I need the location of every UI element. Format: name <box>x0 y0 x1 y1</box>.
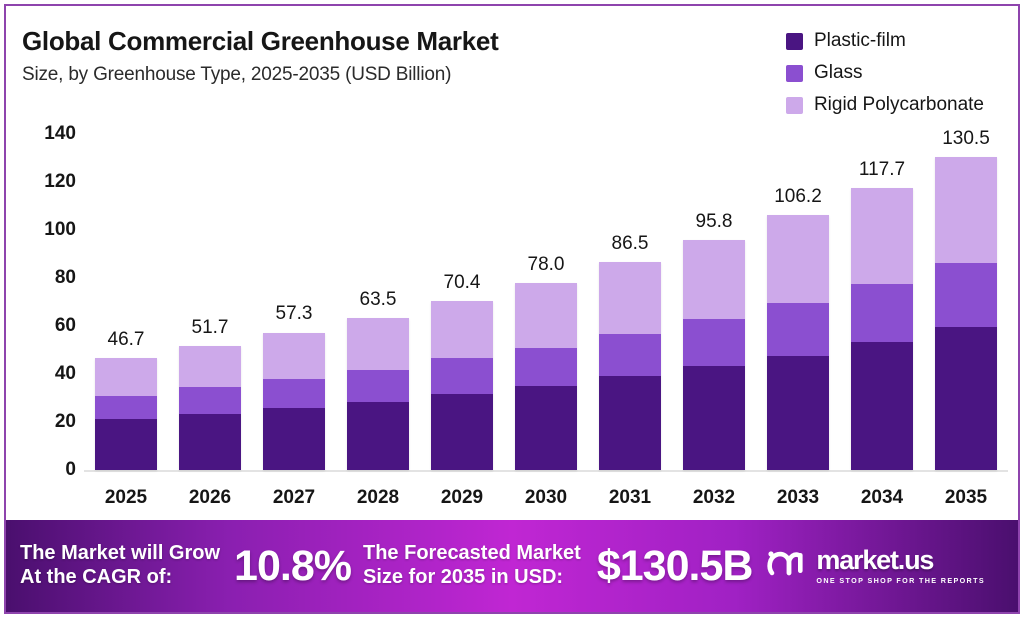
market-us-logo-icon <box>766 548 808 583</box>
legend-item[interactable]: Glass <box>786 62 984 84</box>
bar-segment[interactable] <box>263 379 325 408</box>
y-axis-tick-label: 60 <box>55 315 76 337</box>
bar-segment[interactable] <box>683 319 745 367</box>
cagr-caption-line1: The Market will Grow <box>20 542 220 566</box>
bar-segment[interactable] <box>599 334 661 376</box>
bar-segment[interactable] <box>431 301 493 358</box>
bar-group[interactable]: 51.7 <box>168 134 252 470</box>
bar-segment[interactable] <box>347 370 409 402</box>
bar-stack[interactable] <box>263 333 325 471</box>
bar-group[interactable]: 63.5 <box>336 134 420 470</box>
bar-total-label: 95.8 <box>696 211 733 233</box>
bar-segment[interactable] <box>179 346 241 387</box>
y-axis-tick-label: 80 <box>55 267 76 289</box>
x-axis-tick-label: 2032 <box>672 487 756 509</box>
x-axis-tick-label: 2031 <box>588 487 672 509</box>
market-us-logo-text: market.us ONE STOP SHOP FOR THE REPORTS <box>816 547 985 584</box>
y-axis-tick-label: 100 <box>44 219 76 241</box>
forecast-caption-line1: The Forecasted Market <box>363 542 581 566</box>
page-title: Global Commercial Greenhouse Market <box>22 26 498 57</box>
chart-subtitle: Size, by Greenhouse Type, 2025-2035 (USD… <box>22 64 451 86</box>
bar-segment[interactable] <box>347 402 409 470</box>
bar-stack[interactable] <box>179 346 241 470</box>
summary-banner: The Market will Grow At the CAGR of: 10.… <box>6 520 1018 612</box>
bar-segment[interactable] <box>683 240 745 318</box>
legend-swatch-icon <box>786 65 803 82</box>
x-axis: 2025202620272028202920302031203220332034… <box>84 472 1008 524</box>
logo-tagline: ONE STOP SHOP FOR THE REPORTS <box>816 577 985 584</box>
bar-stack[interactable] <box>683 240 745 470</box>
bar-segment[interactable] <box>179 414 241 470</box>
bar-segment[interactable] <box>599 262 661 334</box>
bar-segment[interactable] <box>179 387 241 414</box>
bar-total-label: 130.5 <box>942 128 990 150</box>
bar-stack[interactable] <box>935 157 997 470</box>
x-axis-tick-label: 2028 <box>336 487 420 509</box>
bar-segment[interactable] <box>599 376 661 470</box>
legend-swatch-icon <box>786 33 803 50</box>
bar-segment[interactable] <box>431 358 493 394</box>
bar-segment[interactable] <box>767 303 829 356</box>
chart-legend: Plastic-filmGlassRigid Polycarbonate <box>786 30 984 116</box>
bar-total-label: 106.2 <box>774 186 822 208</box>
bar-segment[interactable] <box>95 419 157 470</box>
forecast-size-value: $130.5B <box>597 542 753 591</box>
bars-area: 46.751.757.363.570.478.086.595.8106.2117… <box>84 134 1008 524</box>
bar-group[interactable]: 78.0 <box>504 134 588 470</box>
bar-total-label: 78.0 <box>528 254 565 276</box>
bar-group[interactable]: 46.7 <box>84 134 168 470</box>
bar-segment[interactable] <box>95 396 157 420</box>
bar-segment[interactable] <box>683 366 745 470</box>
legend-swatch-icon <box>786 97 803 114</box>
bar-group[interactable]: 95.8 <box>672 134 756 470</box>
logo-name: market.us <box>816 547 985 574</box>
x-axis-tick-label: 2026 <box>168 487 252 509</box>
y-axis-tick-label: 120 <box>44 171 76 193</box>
bar-stack[interactable] <box>95 358 157 470</box>
cagr-value: 10.8% <box>234 542 351 591</box>
bar-stack[interactable] <box>347 318 409 470</box>
legend-item-label: Rigid Polycarbonate <box>814 94 984 116</box>
bar-segment[interactable] <box>851 342 913 470</box>
bar-total-label: 70.4 <box>444 272 481 294</box>
bar-segment[interactable] <box>767 215 829 302</box>
legend-item-label: Glass <box>814 62 863 84</box>
market-us-logo[interactable]: market.us ONE STOP SHOP FOR THE REPORTS <box>766 547 985 584</box>
y-axis-tick-label: 140 <box>44 123 76 145</box>
bar-total-label: 46.7 <box>108 329 145 351</box>
bar-segment[interactable] <box>431 394 493 470</box>
bar-segment[interactable] <box>263 333 325 380</box>
forecast-size-caption: The Forecasted Market Size for 2035 in U… <box>363 542 581 589</box>
x-axis-tick-label: 2035 <box>924 487 1008 509</box>
chart-header: Global Commercial Greenhouse Market Size… <box>6 6 1018 134</box>
x-axis-tick-label: 2025 <box>84 487 168 509</box>
x-axis-tick-label: 2027 <box>252 487 336 509</box>
cagr-caption-line2: At the CAGR of: <box>20 566 220 590</box>
legend-item-label: Plastic-film <box>814 30 906 52</box>
legend-item[interactable]: Plastic-film <box>786 30 984 52</box>
bar-total-label: 63.5 <box>360 289 397 311</box>
bar-segment[interactable] <box>95 358 157 396</box>
bar-group[interactable]: 70.4 <box>420 134 504 470</box>
bar-stack[interactable] <box>767 215 829 470</box>
bar-segment[interactable] <box>767 356 829 470</box>
cagr-caption: The Market will Grow At the CAGR of: <box>20 542 220 589</box>
bar-group[interactable]: 117.7 <box>840 134 924 470</box>
y-axis-tick-label: 40 <box>55 363 76 385</box>
chart-plot-area: 020406080100120140 46.751.757.363.570.47… <box>6 134 1018 524</box>
bar-segment[interactable] <box>515 348 577 386</box>
bar-series-container: 46.751.757.363.570.478.086.595.8106.2117… <box>84 134 1008 470</box>
bar-segment[interactable] <box>935 157 997 263</box>
y-axis-tick-label: 0 <box>65 459 76 481</box>
infographic-frame: Global Commercial Greenhouse Market Size… <box>4 4 1020 614</box>
bar-total-label: 57.3 <box>276 303 313 325</box>
bar-stack[interactable] <box>431 301 493 470</box>
bar-total-label: 117.7 <box>859 159 905 181</box>
bar-group[interactable]: 86.5 <box>588 134 672 470</box>
bar-group[interactable]: 57.3 <box>252 134 336 470</box>
bar-segment[interactable] <box>851 188 913 285</box>
bar-stack[interactable] <box>515 283 577 470</box>
bar-total-label: 51.7 <box>192 317 229 339</box>
y-axis: 020406080100120140 <box>6 134 84 524</box>
forecast-caption-line2: Size for 2035 in USD: <box>363 566 581 590</box>
bar-segment[interactable] <box>935 263 997 327</box>
bar-group[interactable]: 130.5 <box>924 134 1008 470</box>
bar-segment[interactable] <box>263 408 325 470</box>
bar-stack[interactable] <box>851 188 913 470</box>
bar-segment[interactable] <box>935 327 997 470</box>
x-axis-tick-label: 2034 <box>840 487 924 509</box>
bar-segment[interactable] <box>851 284 913 342</box>
bar-stack[interactable] <box>599 262 661 470</box>
bar-total-label: 86.5 <box>612 233 649 255</box>
bar-segment[interactable] <box>515 386 577 470</box>
x-axis-tick-label: 2033 <box>756 487 840 509</box>
bar-segment[interactable] <box>347 318 409 370</box>
bar-segment[interactable] <box>515 283 577 348</box>
x-axis-tick-label: 2029 <box>420 487 504 509</box>
bar-group[interactable]: 106.2 <box>756 134 840 470</box>
x-axis-tick-label: 2030 <box>504 487 588 509</box>
y-axis-tick-label: 20 <box>55 411 76 433</box>
legend-item[interactable]: Rigid Polycarbonate <box>786 94 984 116</box>
